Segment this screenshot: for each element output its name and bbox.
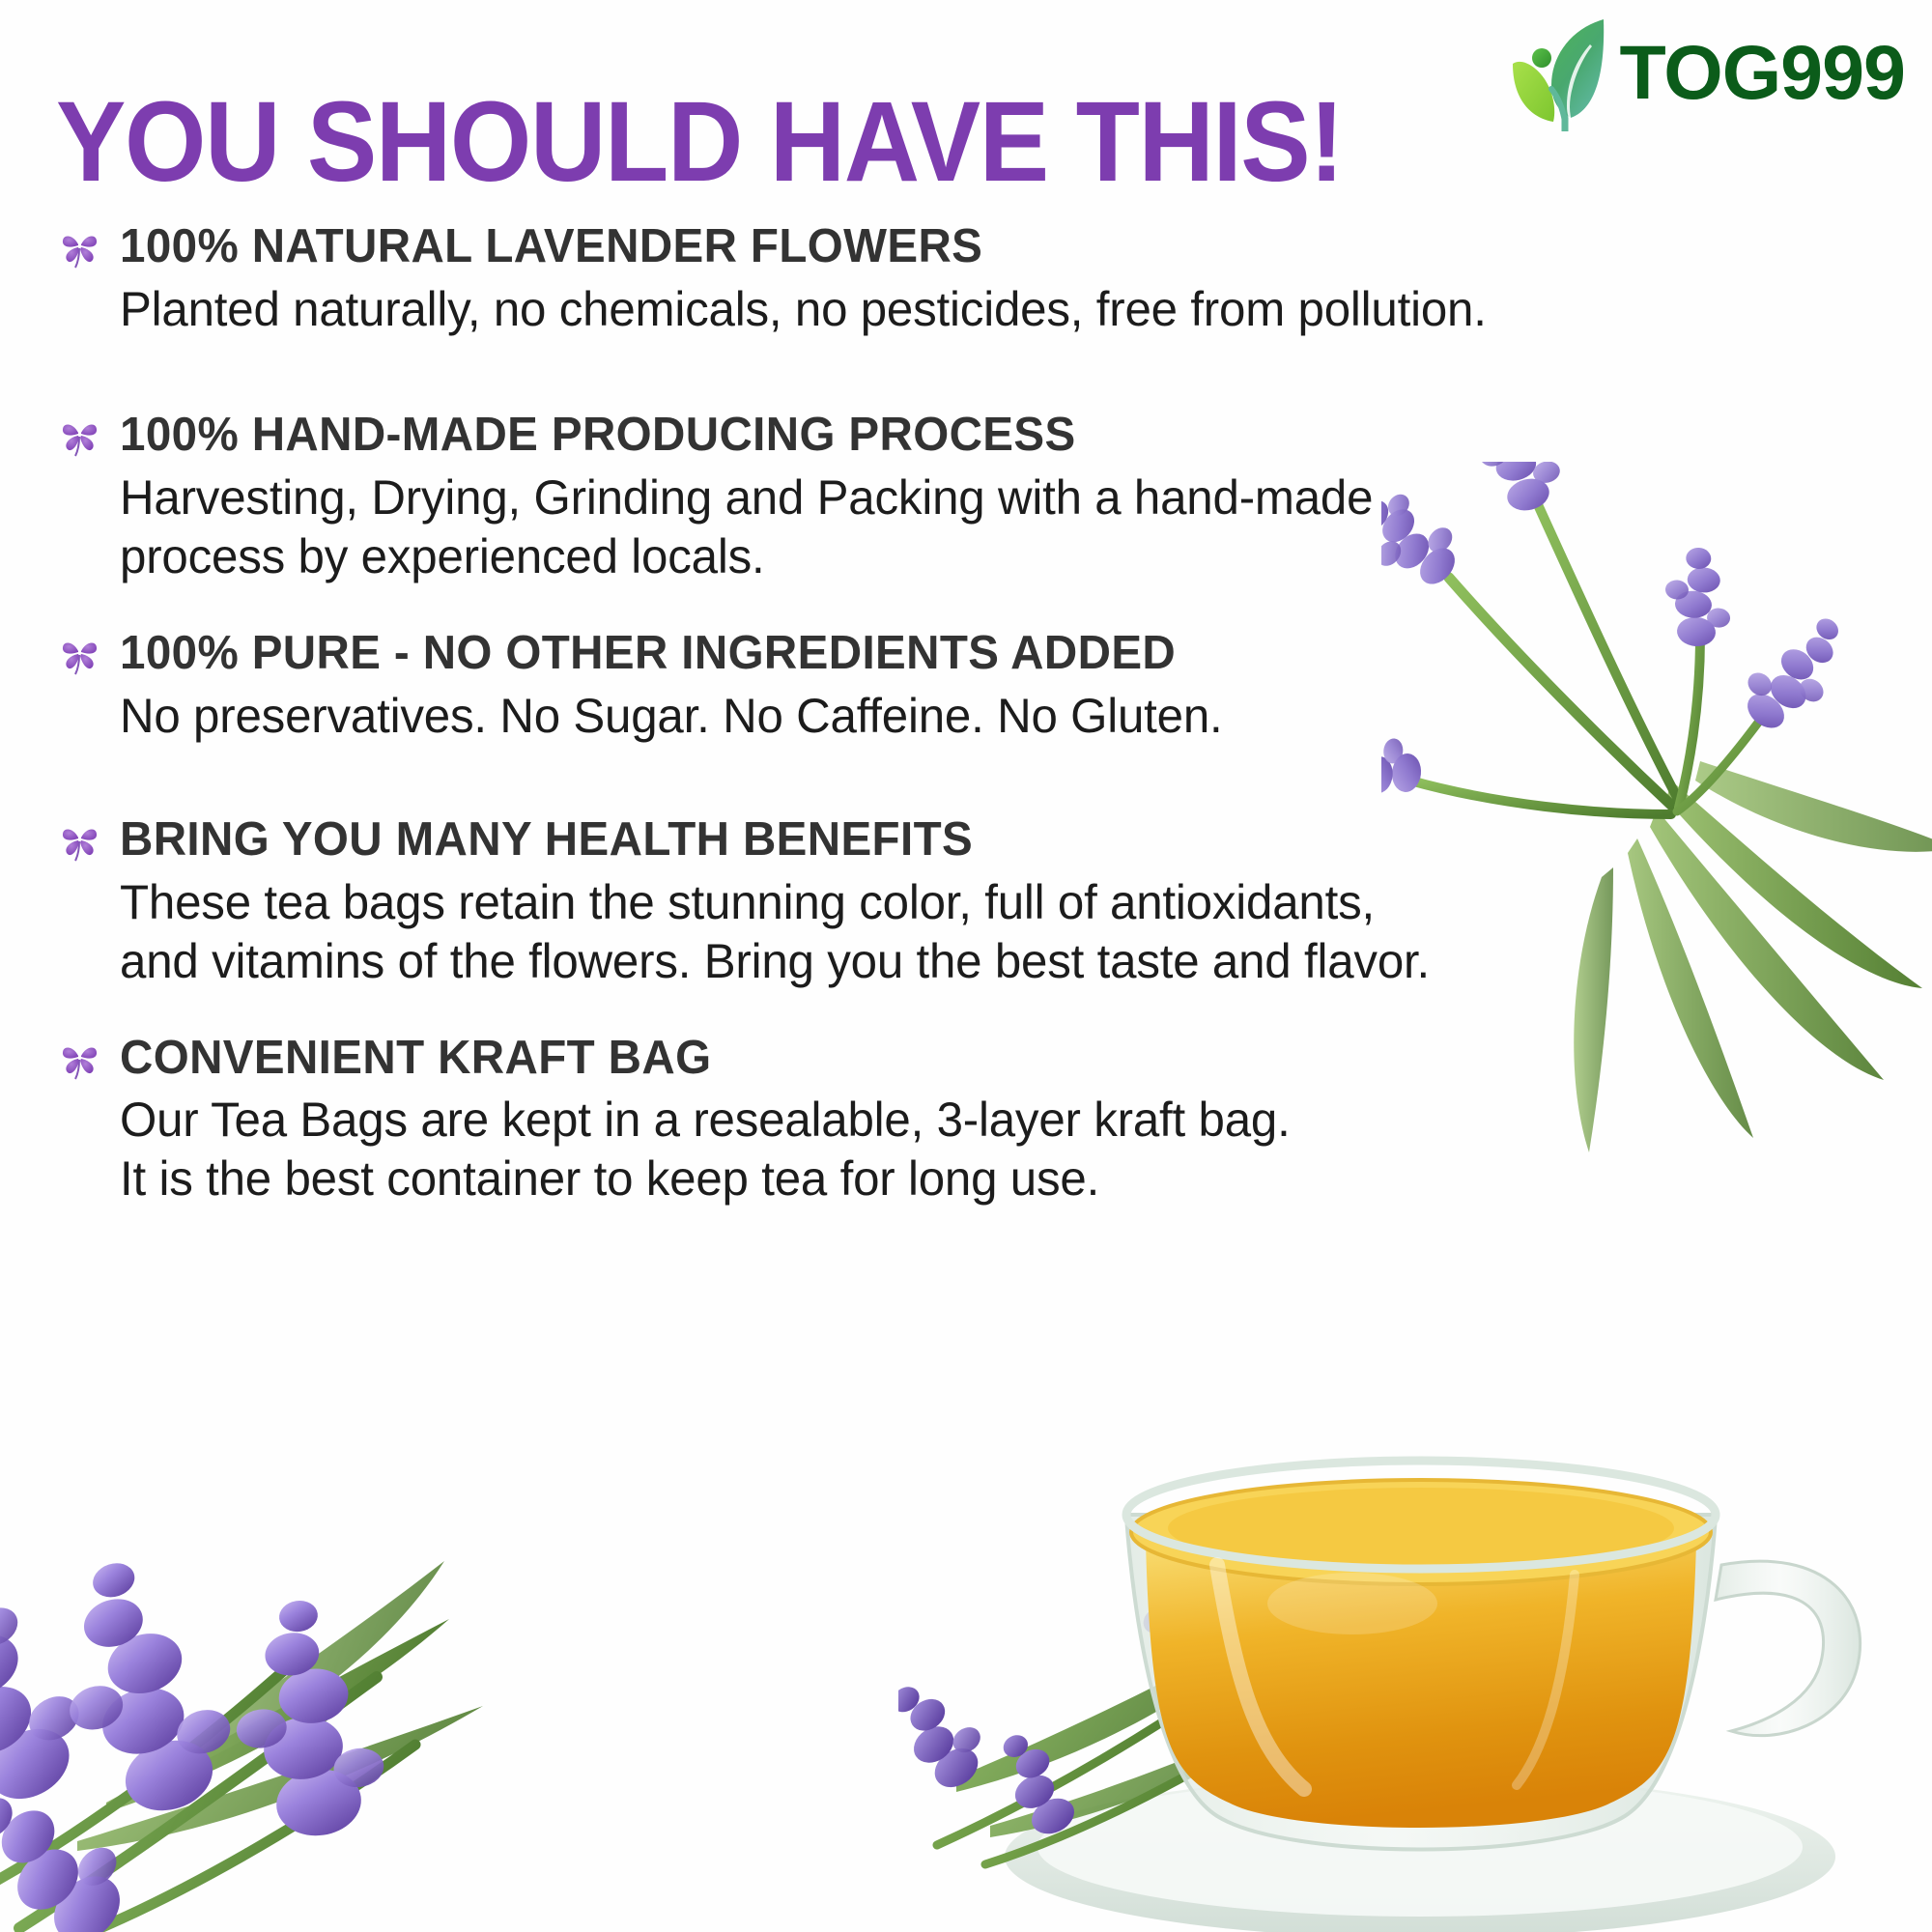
feature-desc-line: No preservatives. No Sugar. No Caffeine.… [120, 687, 1868, 746]
tea-cup-image [898, 1362, 1922, 1932]
four-leaf-clover-icon [60, 1039, 100, 1080]
feature-title: 100% PURE - NO OTHER INGREDIENTS ADDED [120, 627, 1842, 680]
four-leaf-clover-icon [60, 416, 100, 457]
page-title: YOU SHOULD HAVE THIS! [56, 85, 1343, 199]
feature-item: 100% NATURAL LAVENDER FLOWERS Planted na… [60, 220, 1895, 339]
feature-list: 100% NATURAL LAVENDER FLOWERS Planted na… [60, 220, 1895, 1208]
feature-item: 100% HAND-MADE PRODUCING PROCESS Harvest… [60, 409, 1895, 586]
feature-item: CONVENIENT KRAFT BAG Our Tea Bags are ke… [60, 1032, 1895, 1209]
feature-desc-line: It is the best container to keep tea for… [120, 1150, 1868, 1208]
feature-description: Our Tea Bags are kept in a resealable, 3… [120, 1091, 1868, 1208]
four-leaf-clover-icon [60, 635, 100, 675]
feature-title: 100% HAND-MADE PRODUCING PROCESS [120, 409, 1842, 462]
infographic-poster: TOG999 YOU SHOULD HAVE THIS! [0, 0, 1932, 1932]
brand-logo[interactable]: TOG999 [1509, 17, 1905, 131]
lavender-bouquet-image [0, 1522, 638, 1932]
feature-description: Planted naturally, no chemicals, no pest… [120, 280, 1868, 339]
feature-title: BRING YOU MANY HEALTH BENEFITS [120, 813, 1842, 867]
feature-desc-line: and vitamins of the flowers. Bring you t… [120, 932, 1868, 991]
feature-desc-line: Our Tea Bags are kept in a resealable, 3… [120, 1091, 1868, 1150]
leaf-sprout-icon [1509, 17, 1613, 131]
feature-description: These tea bags retain the stunning color… [120, 873, 1868, 991]
feature-desc-line: Harvesting, Drying, Grinding and Packing… [120, 469, 1868, 527]
feature-item: BRING YOU MANY HEALTH BENEFITS These tea… [60, 813, 1895, 991]
feature-title: 100% NATURAL LAVENDER FLOWERS [120, 220, 1842, 273]
feature-title: CONVENIENT KRAFT BAG [120, 1032, 1842, 1085]
logo-wordmark: TOG999 [1619, 34, 1905, 116]
feature-description: Harvesting, Drying, Grinding and Packing… [120, 469, 1868, 586]
feature-desc-line: These tea bags retain the stunning color… [120, 873, 1868, 932]
feature-desc-line: process by experienced locals. [120, 527, 1868, 586]
four-leaf-clover-icon [60, 228, 100, 269]
four-leaf-clover-icon [60, 821, 100, 862]
feature-desc-line: Planted naturally, no chemicals, no pest… [120, 280, 1868, 339]
feature-item: 100% PURE - NO OTHER INGREDIENTS ADDED N… [60, 627, 1895, 746]
feature-description: No preservatives. No Sugar. No Caffeine.… [120, 687, 1868, 746]
